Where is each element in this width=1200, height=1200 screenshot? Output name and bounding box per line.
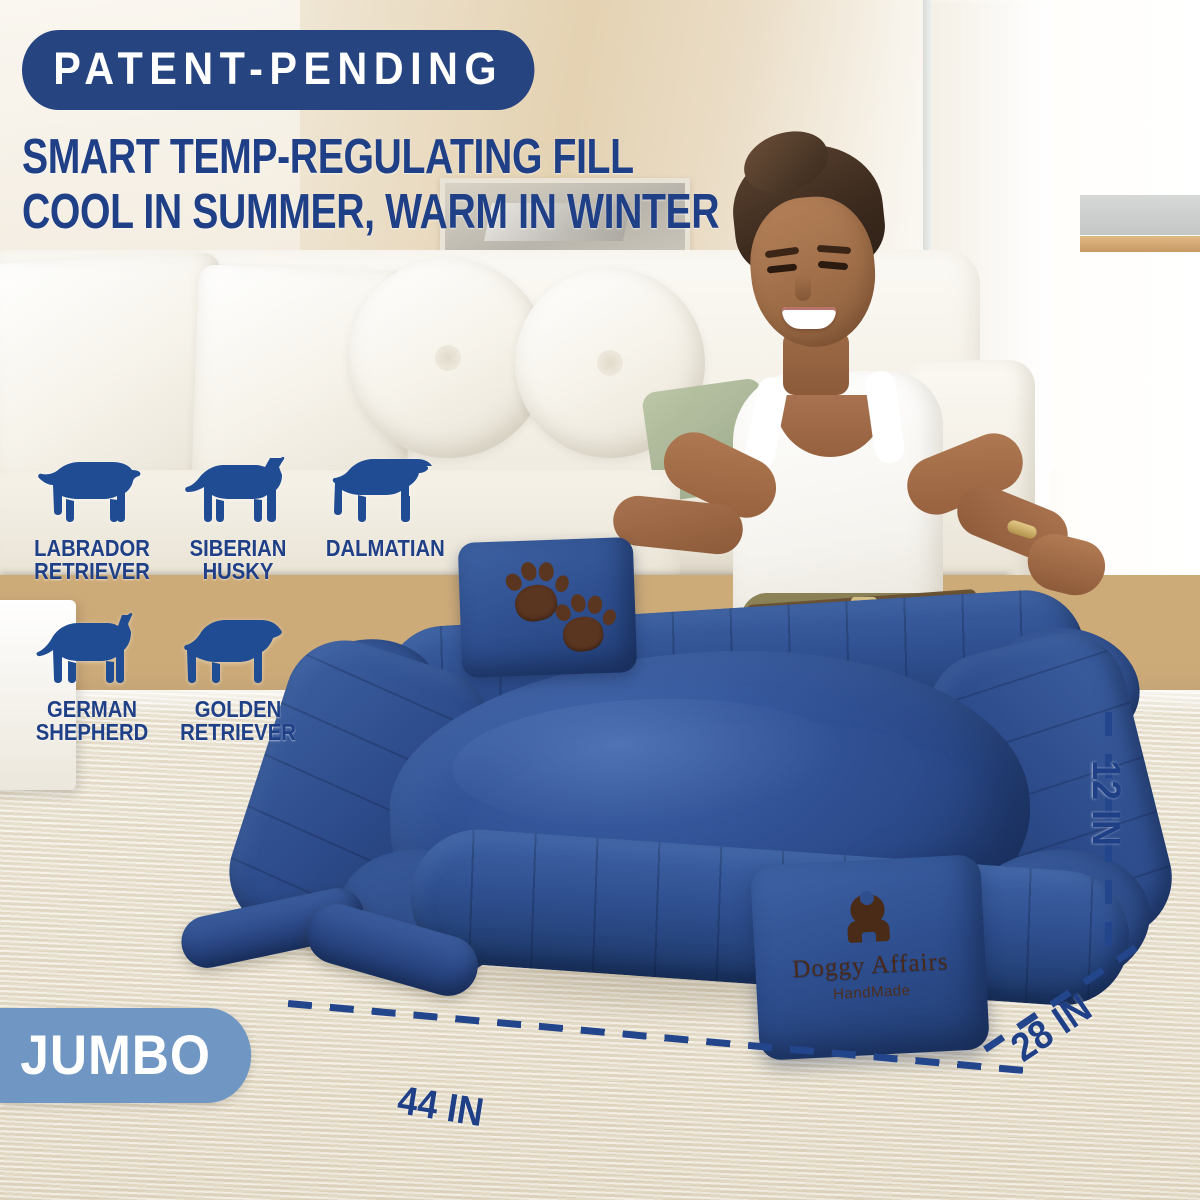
head-pillow: [458, 537, 638, 678]
breed-label: SIBERIAN HUSKY: [180, 537, 296, 583]
breed-golden-retriever: GOLDEN RETRIEVER: [172, 601, 304, 744]
dog-silhouette-labrador-icon: [26, 440, 158, 532]
breed-label: DALMATIAN: [326, 537, 442, 560]
window-blind: [1080, 195, 1200, 235]
window-sill: [1080, 236, 1200, 252]
breed-labrador-retriever: LABRADOR RETRIEVER: [26, 440, 158, 583]
dog-head-logo-icon: [844, 893, 892, 943]
patent-pending-badge: PATENT-PENDING: [22, 30, 534, 110]
breed-dalmatian: DALMATIAN: [318, 440, 450, 583]
breed-german-shepherd: GERMAN SHEPHERD: [26, 601, 158, 744]
dog-silhouette-dalmatian-icon: [318, 440, 450, 532]
breed-row-2: GERMAN SHEPHERD GOLDEN RETRIEVER: [26, 601, 456, 744]
product-marketing-image: Doggy Affairs HandMade PATENT-PENDING SM…: [0, 0, 1200, 1200]
breed-compatibility-list: LABRADOR RETRIEVER SIBERIAN HUSKY DA: [26, 440, 456, 744]
dog-silhouette-golden-retriever-icon: [172, 601, 304, 693]
dimension-label-height: 12 IN: [1083, 760, 1128, 846]
size-badge-jumbo: JUMBO: [0, 1008, 251, 1103]
breed-row-1: LABRADOR RETRIEVER SIBERIAN HUSKY DA: [26, 440, 456, 583]
breed-label: GERMAN SHEPHERD: [34, 698, 150, 744]
headline-block: SMART TEMP-REGULATING FILL COOL IN SUMME…: [22, 134, 719, 236]
woman-nose: [795, 275, 811, 301]
dog-silhouette-husky-icon: [172, 440, 304, 532]
headline-line-2: COOL IN SUMMER, WARM IN WINTER: [22, 189, 719, 236]
woman-smile: [782, 307, 836, 329]
headline-line-1: SMART TEMP-REGULATING FILL: [22, 134, 719, 181]
breed-label: LABRADOR RETRIEVER: [34, 537, 150, 583]
breed-label: GOLDEN RETRIEVER: [180, 698, 296, 744]
breed-siberian-husky: SIBERIAN HUSKY: [172, 440, 304, 583]
dog-silhouette-german-shepherd-icon: [26, 601, 158, 693]
branded-bolster-pillow: Doggy Affairs HandMade: [750, 854, 990, 1061]
